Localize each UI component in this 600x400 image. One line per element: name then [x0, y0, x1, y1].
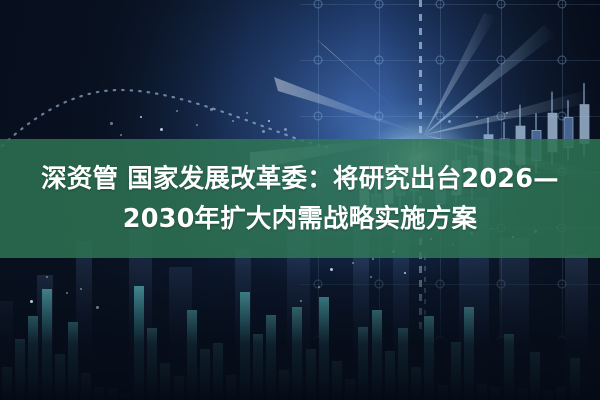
particle-dot [80, 288, 82, 290]
particle-dot [352, 262, 354, 264]
particle-dot [160, 128, 163, 131]
particle-dot [268, 120, 270, 122]
particle-dot [196, 124, 198, 126]
particle-dot [140, 116, 142, 118]
particle-dot [232, 120, 234, 122]
particle-dot [246, 112, 248, 114]
particle-dot [210, 108, 213, 111]
particle-dot [506, 112, 508, 114]
particle-dot [66, 292, 68, 294]
particle-dot [30, 300, 33, 303]
particle-dot [370, 276, 372, 278]
particle-dot [448, 120, 451, 123]
particle-dot [110, 122, 113, 125]
particle-dot [176, 110, 178, 112]
particle-dot [262, 130, 265, 133]
particle-dot [120, 134, 122, 136]
particle-dot [46, 276, 48, 278]
particle-dot [318, 286, 320, 288]
headline-container: 深资管 国家发展改革委：将研究出台2026—2030年扩大内需战略实施方案 [0, 139, 600, 258]
particle-dot [96, 306, 99, 309]
particle-dot [284, 128, 287, 131]
page-title: 深资管 国家发展改革委：将研究出台2026—2030年扩大内需战略实施方案 [12, 159, 588, 239]
particle-dot [372, 258, 374, 260]
particle-dot [404, 272, 406, 274]
particle-dot [476, 116, 478, 118]
news-banner: 深资管 国家发展改革委：将研究出台2026—2030年扩大内需战略实施方案 [0, 0, 600, 400]
particle-dot [330, 268, 333, 271]
particle-dot [300, 300, 302, 302]
